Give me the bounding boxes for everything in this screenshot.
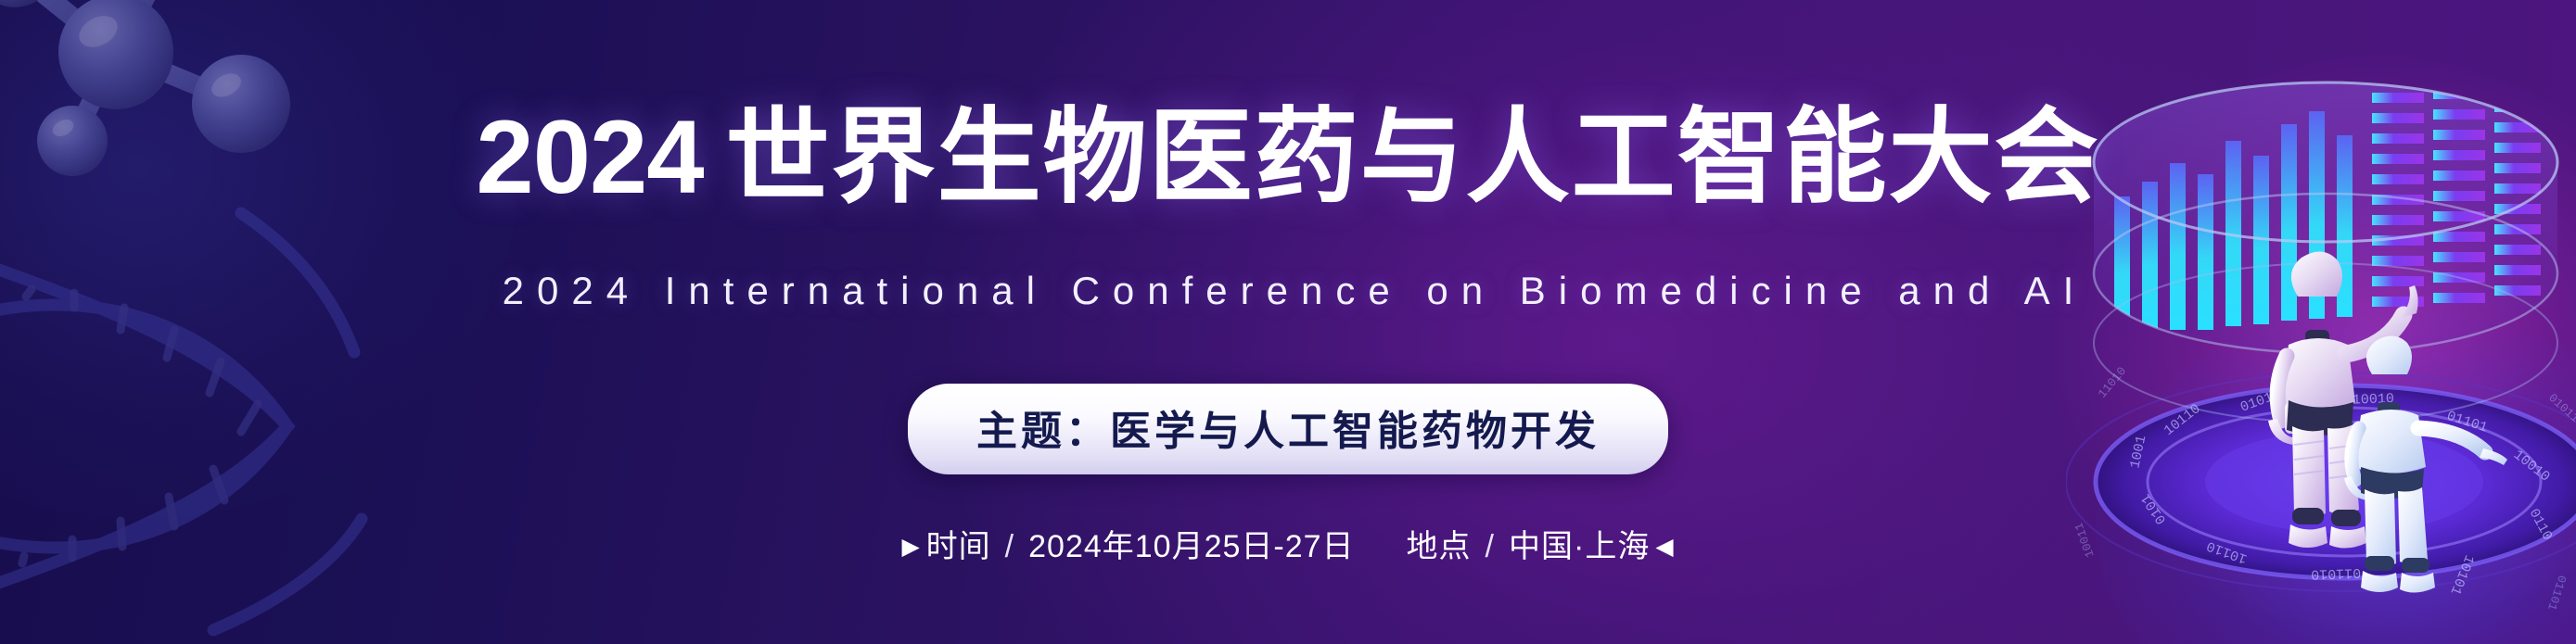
time-separator: /: [1005, 529, 1014, 564]
left-triangle-icon: ▶: [901, 534, 920, 560]
time-value: 2024年10月25日-27日: [1028, 529, 1354, 564]
conference-banner: 10110 0101 110010 01101 10010 0110 10101…: [0, 0, 2576, 644]
place-label: 地点: [1407, 529, 1472, 564]
place-value: 中国·上海: [1509, 529, 1650, 564]
place-separator: /: [1486, 529, 1495, 564]
theme-badge: 主题：医学与人工智能药物开发: [908, 384, 1668, 474]
title-name: 世界生物医药与人工智能大会: [726, 99, 2100, 215]
theme-text: 主题：医学与人工智能药物开发: [976, 409, 1600, 454]
time-label: 时间: [926, 529, 991, 564]
subtitle-english: 2024 International Conference on Biomedi…: [0, 269, 2576, 313]
banner-content: 2024世界生物医药与人工智能大会 2024 International Con…: [0, 0, 2576, 644]
theme-badge-wrap: 主题：医学与人工智能药物开发: [0, 384, 2576, 474]
page-title: 2024世界生物医药与人工智能大会: [0, 100, 2576, 214]
title-year: 2024: [476, 99, 703, 215]
event-info-line: ▶时间/2024年10月25日-27日地点/中国·上海◀: [0, 521, 2576, 566]
right-triangle-icon: ◀: [1655, 534, 1674, 560]
